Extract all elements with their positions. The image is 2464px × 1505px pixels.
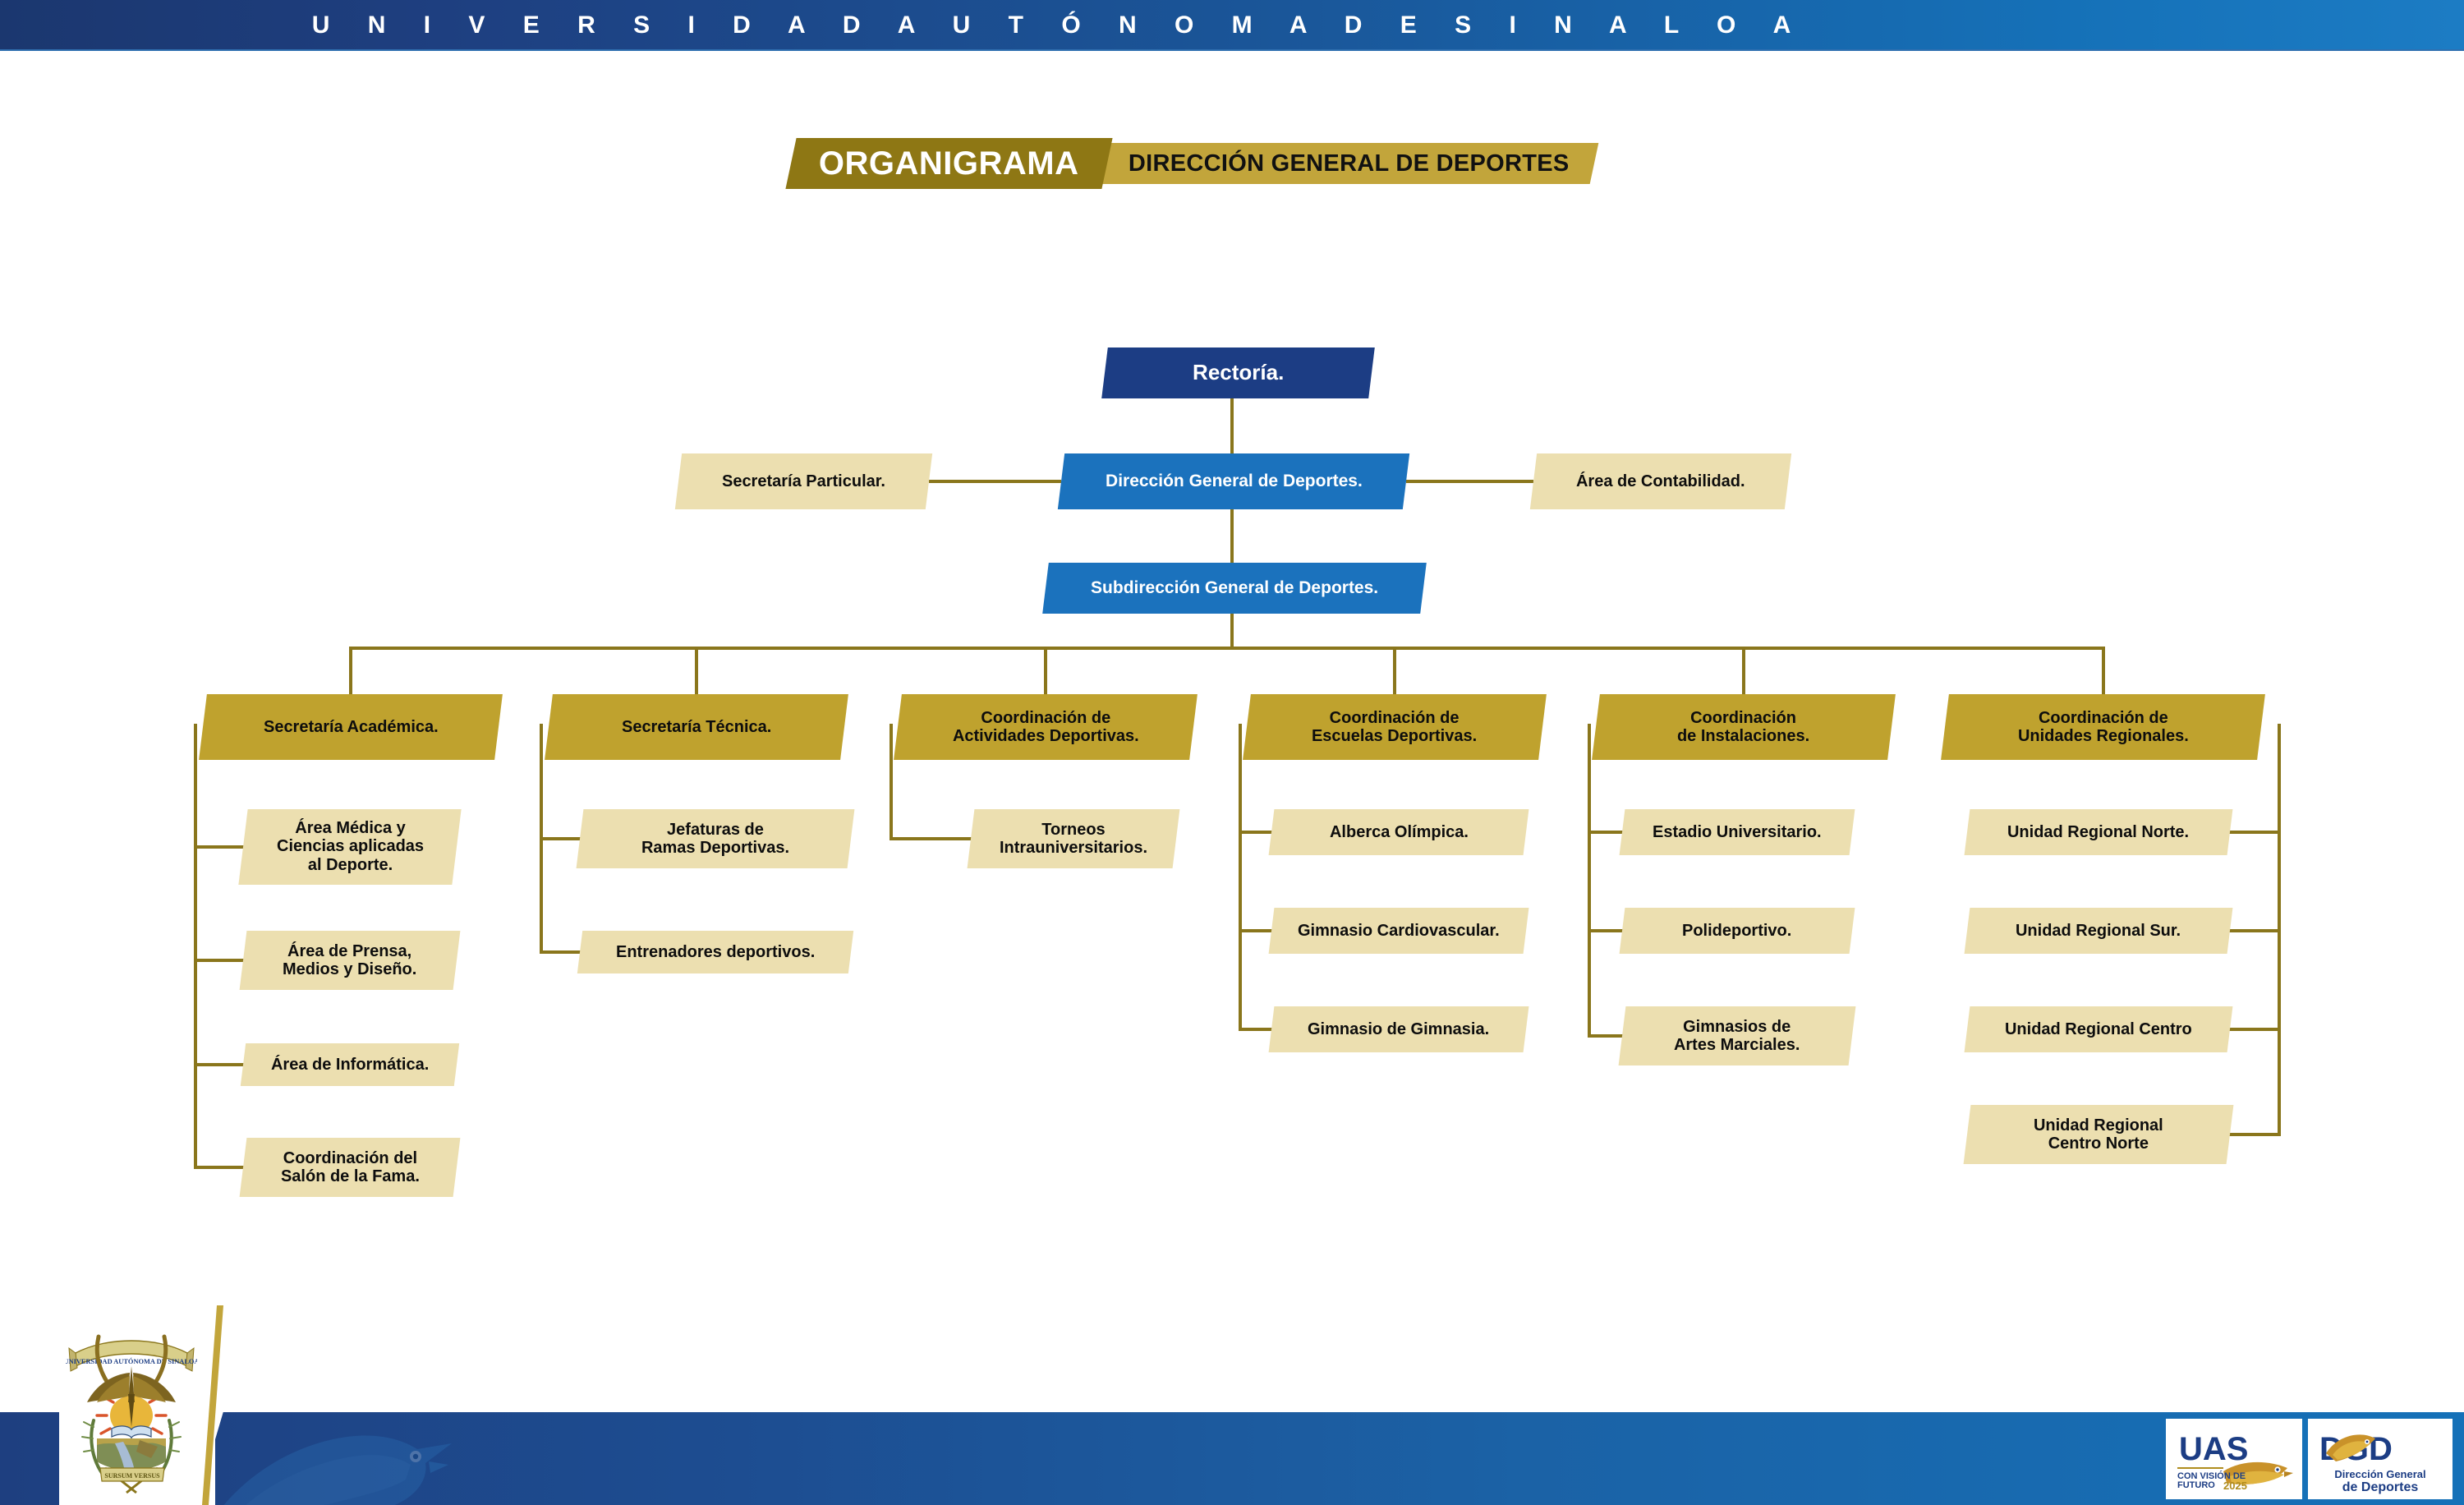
node-secretaria-academica-child-2[interactable]: Área de Prensa,Medios y Diseño. [240,931,461,990]
line-coordinacion-unidades-regionales-child-2 [2225,929,2281,932]
node-coordinacion-escuelas-deportivas-child-3-label: Gimnasio de Gimnasia. [1308,1020,1489,1038]
node-coordinacion-unidades-regionales-child-4-label: Unidad RegionalCentro Norte [2034,1116,2163,1153]
title-secondary-banner: DIRECCIÓN GENERAL DE DEPORTES [1087,143,1597,184]
node-secretaria-academica[interactable]: Secretaría Académica. [199,694,503,760]
footer-logos: UAS CON VISIÓN DE FUTURO 2025 DGD Direcc… [2166,1419,2453,1499]
node-secretaria-academica-child-1-label: Área Médica yCiencias aplicadasal Deport… [277,819,424,874]
node-rectoria-label: Rectoría. [1193,361,1284,384]
bracket-coordinacion-instalaciones [1588,724,1591,1038]
node-coordinacion-escuelas-deportivas-child-1-label: Alberca Olímpica. [1330,823,1469,841]
bracket-coordinacion-escuelas-deportivas [1239,724,1242,1031]
title-banner: ORGANIGRAMA DIRECCIÓN GENERAL DE DEPORTE… [791,138,1593,189]
node-coordinacion-escuelas-deportivas-child-2[interactable]: Gimnasio Cardiovascular. [1269,908,1529,954]
node-coordinacion-instalaciones[interactable]: Coordinaciónde Instalaciones. [1592,694,1896,760]
dgd-logo: DGD Dirección General de Deportes [2308,1419,2453,1499]
title-secondary-text: DIRECCIÓN GENERAL DE DEPORTES [1129,150,1570,177]
uas-tagline-2: FUTURO [2177,1480,2215,1490]
dgd-line-2: de Deportes [2342,1480,2419,1494]
line-coordinacion-actividades-deportivas-child-1 [890,837,976,840]
line-dgd-to-contabilidad [1406,480,1533,483]
node-coordinacion-unidades-regionales-child-2-label: Unidad Regional Sur. [2016,922,2181,940]
node-coordinacion-actividades-deportivas-label: Coordinación deActividades Deportivas. [953,709,1139,746]
uas-acronym: UAS [2179,1431,2248,1467]
node-secretaria-tecnica-label: Secretaría Técnica. [622,718,771,736]
gold-diagonal-line [202,1305,301,1505]
line-secretaria-academica-child-3 [194,1063,248,1066]
line-bus-to-coordinacion-escuelas-deportivas [1393,647,1396,694]
node-coordinacion-escuelas-deportivas-child-1[interactable]: Alberca Olímpica. [1269,809,1529,855]
node-coordinacion-actividades-deportivas[interactable]: Coordinación deActividades Deportivas. [894,694,1198,760]
line-subdireccion-drop [1230,614,1234,647]
node-rectoria[interactable]: Rectoría. [1101,347,1375,398]
title-primary-banner: ORGANIGRAMA [785,138,1112,189]
node-secretaria-academica-child-2-label: Área de Prensa,Medios y Diseño. [283,942,416,979]
line-secretaria-tecnica-child-2 [540,950,585,954]
node-secretaria-academica-label: Secretaría Académica. [264,718,439,736]
node-secretaria-tecnica-child-2-label: Entrenadores deportivos. [616,943,815,961]
header-bar: U N I V E R S I D A D A U T Ó N O M A D … [0,0,2464,51]
node-coordinacion-escuelas-deportivas-child-2-label: Gimnasio Cardiovascular. [1298,922,1500,940]
university-name: U N I V E R S I D A D A U T Ó N O M A D … [0,0,2103,51]
footer-bar [0,1412,2464,1505]
line-secretaria-academica-child-4 [194,1166,248,1169]
line-bus-to-secretaria-tecnica [695,647,698,694]
node-secretaria-particular-label: Secretaría Particular. [722,472,885,490]
node-secretaria-academica-child-4[interactable]: Coordinación delSalón de la Fama. [240,1138,461,1197]
node-direccion-general[interactable]: Dirección General de Deportes. [1058,453,1409,509]
node-coordinacion-escuelas-deportivas-child-3[interactable]: Gimnasio de Gimnasia. [1269,1006,1529,1052]
node-secretaria-tecnica-child-2[interactable]: Entrenadores deportivos. [577,931,853,973]
node-coordinacion-instalaciones-child-2-label: Polideportivo. [1682,922,1791,940]
node-coordinacion-unidades-regionales-child-1-label: Unidad Regional Norte. [2007,823,2189,841]
line-dgd-to-secretaria-particular [929,480,1061,483]
dgd-logo-icon: DGD Dirección General de Deportes [2315,1424,2446,1494]
line-bus-to-coordinacion-unidades-regionales [2102,647,2105,694]
line-secretaria-academica-child-1 [194,845,248,849]
node-secretaria-academica-child-3-label: Área de Informática. [271,1056,429,1074]
node-secretaria-tecnica-child-1-label: Jefaturas deRamas Deportivas. [641,821,789,858]
node-coordinacion-instalaciones-child-3-label: Gimnasios deArtes Marciales. [1674,1018,1800,1055]
bracket-secretaria-academica [194,724,197,1169]
line-secretaria-academica-child-2 [194,959,248,962]
node-coordinacion-instalaciones-child-1-label: Estadio Universitario. [1653,823,1822,841]
node-coordinacion-instalaciones-label: Coordinaciónde Instalaciones. [1677,709,1809,746]
node-secretaria-tecnica-child-1[interactable]: Jefaturas deRamas Deportivas. [577,809,855,868]
logo-divider [2302,1419,2308,1499]
line-bus-to-secretaria-academica [349,647,352,694]
node-coordinacion-actividades-deportivas-child-1[interactable]: TorneosIntrauniversitarios. [968,809,1180,868]
line-coordinacion-unidades-regionales-child-3 [2225,1028,2281,1031]
node-coordinacion-unidades-regionales-child-4[interactable]: Unidad RegionalCentro Norte [1964,1105,2234,1164]
node-direccion-general-label: Dirección General de Deportes. [1106,472,1363,491]
line-bus-to-coordinacion-instalaciones [1742,647,1745,694]
node-secretaria-tecnica[interactable]: Secretaría Técnica. [545,694,848,760]
crest-motto: SURSUM VERSUS [104,1472,160,1480]
node-coordinacion-instalaciones-child-2[interactable]: Polideportivo. [1620,908,1855,954]
node-coordinacion-escuelas-deportivas[interactable]: Coordinación deEscuelas Deportivas. [1243,694,1547,760]
title-primary-text: ORGANIGRAMA [819,145,1079,182]
node-coordinacion-unidades-regionales[interactable]: Coordinación deUnidades Regionales. [1941,694,2265,760]
uas-year: 2025 [2223,1480,2247,1492]
dgd-line-1: Dirección General [2334,1468,2425,1480]
line-coordinacion-unidades-regionales-child-4 [2225,1133,2281,1136]
svg-text:UNIVERSIDAD AUTÓNOMA DE SINALO: UNIVERSIDAD AUTÓNOMA DE SINALOA [66,1357,197,1365]
node-coordinacion-unidades-regionales-child-3-label: Unidad Regional Centro [2005,1020,2192,1038]
node-subdireccion[interactable]: Subdirección General de Deportes. [1042,563,1427,614]
node-coordinacion-escuelas-deportivas-label: Coordinación deEscuelas Deportivas. [1312,709,1477,746]
line-bus-to-coordinacion-actividades-deportivas [1044,647,1047,694]
node-coordinacion-instalaciones-child-3[interactable]: Gimnasios deArtes Marciales. [1619,1006,1856,1065]
line-coordinacion-unidades-regionales-child-1 [2225,831,2281,834]
node-coordinacion-unidades-regionales-child-3[interactable]: Unidad Regional Centro [1965,1006,2233,1052]
organigrama-page: U N I V E R S I D A D A U T Ó N O M A D … [0,0,2464,1505]
bracket-coordinacion-actividades-deportivas [890,724,893,840]
uas-coat-of-arms-icon: UNIVERSIDAD AUTÓNOMA DE SINALOA [66,1323,197,1496]
line-departments-bus [349,647,2105,650]
node-area-contabilidad-label: Área de Contabilidad. [1576,472,1745,490]
node-area-contabilidad[interactable]: Área de Contabilidad. [1530,453,1791,509]
node-subdireccion-label: Subdirección General de Deportes. [1091,578,1378,598]
node-coordinacion-unidades-regionales-child-1[interactable]: Unidad Regional Norte. [1965,809,2233,855]
node-secretaria-particular[interactable]: Secretaría Particular. [675,453,932,509]
uas-logo: UAS CON VISIÓN DE FUTURO 2025 [2166,1419,2302,1499]
node-coordinacion-actividades-deportivas-child-1-label: TorneosIntrauniversitarios. [1000,821,1147,858]
node-coordinacion-unidades-regionales-label: Coordinación deUnidades Regionales. [2018,709,2189,746]
node-secretaria-academica-child-4-label: Coordinación delSalón de la Fama. [281,1149,420,1186]
node-secretaria-academica-child-1[interactable]: Área Médica yCiencias aplicadasal Deport… [238,809,461,885]
uas-logo-icon: UAS CON VISIÓN DE FUTURO 2025 [2172,1424,2296,1494]
node-coordinacion-instalaciones-child-1[interactable]: Estadio Universitario. [1620,809,1855,855]
line-secretaria-tecnica-child-1 [540,837,585,840]
line-rectoria-to-dgd [1230,398,1234,453]
line-dgd-to-subdireccion [1230,509,1234,563]
node-secretaria-academica-child-3[interactable]: Área de Informática. [241,1043,459,1086]
node-coordinacion-unidades-regionales-child-2[interactable]: Unidad Regional Sur. [1965,908,2233,954]
